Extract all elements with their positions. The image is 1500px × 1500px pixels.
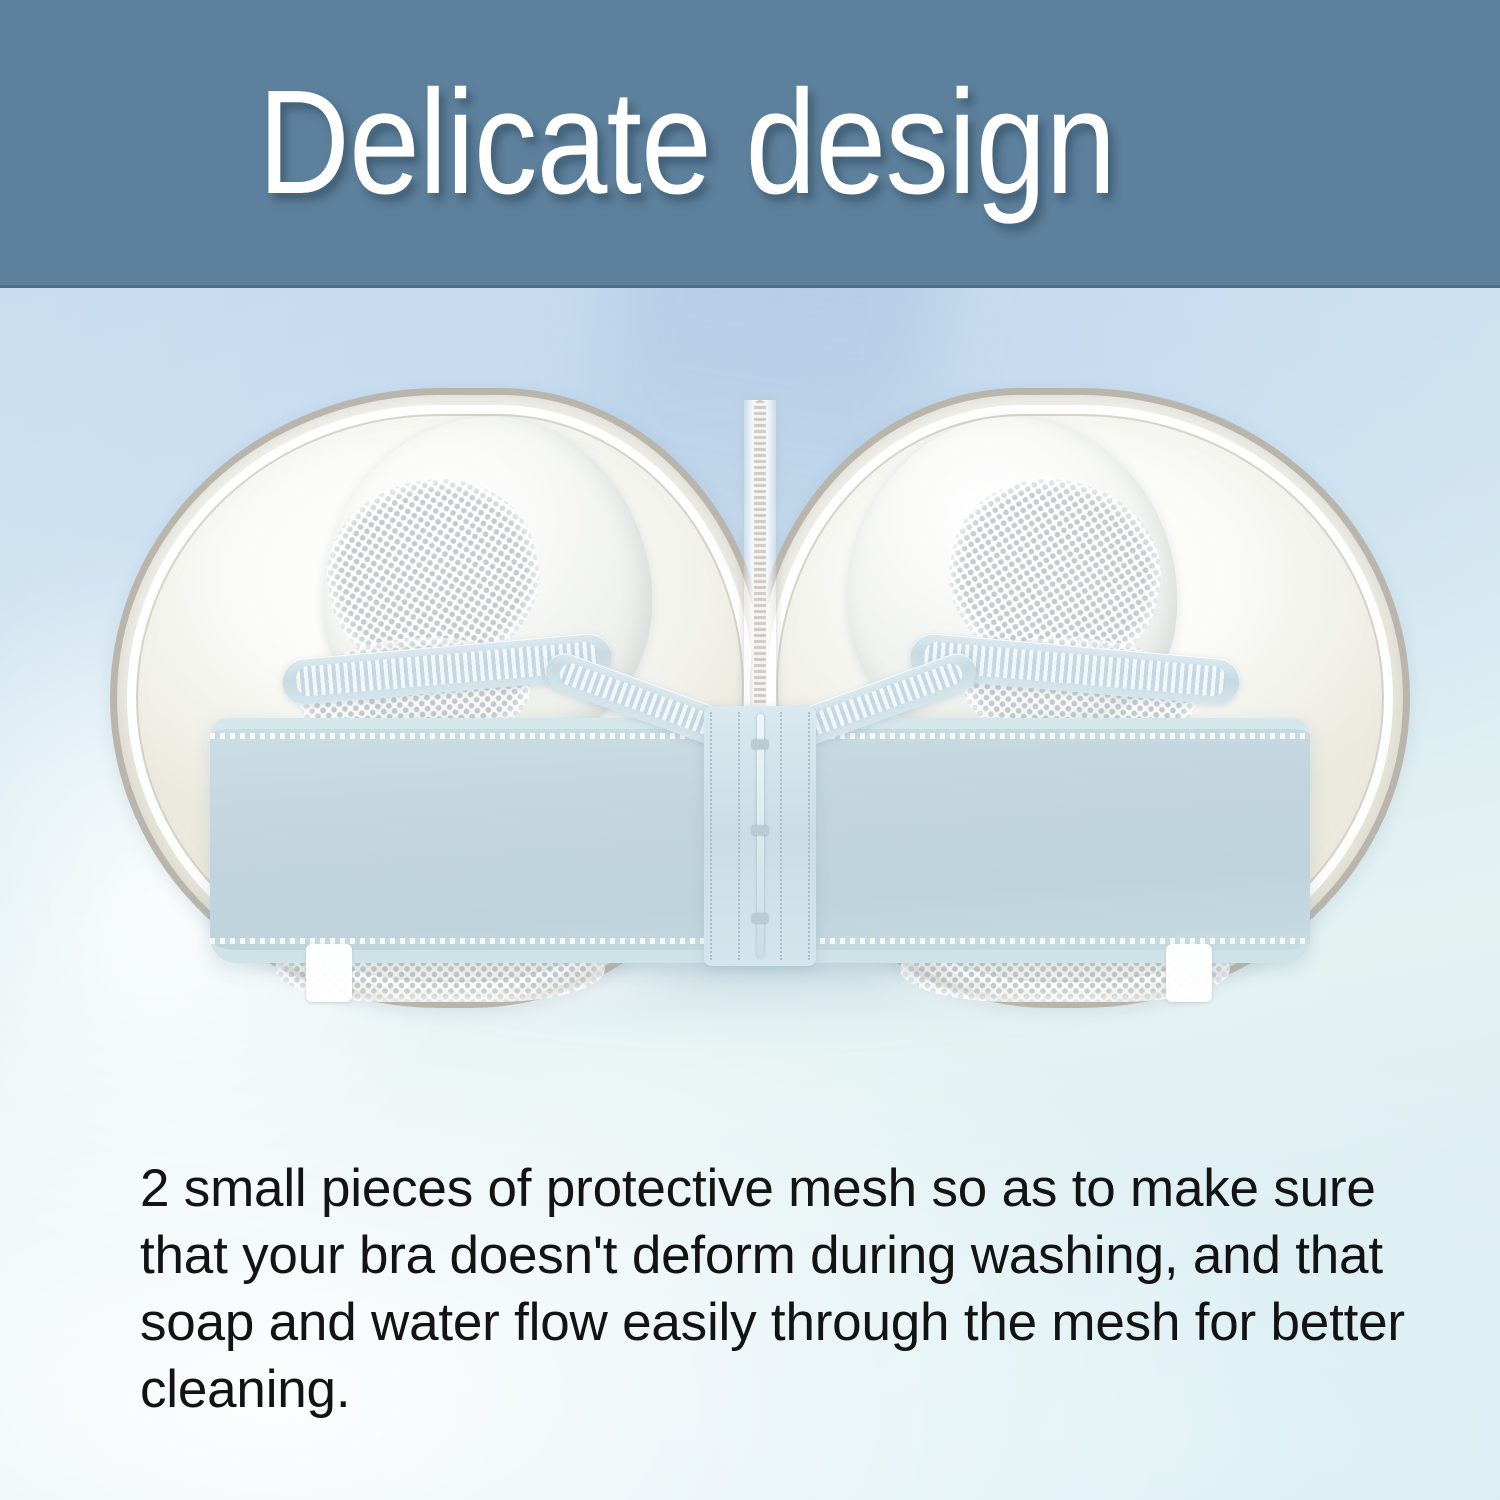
closure-hook (752, 826, 768, 835)
center-zipper (744, 400, 776, 730)
bag-tab-right (1166, 944, 1212, 1002)
closure-hook (752, 914, 768, 923)
feature-caption: 2 small pieces of protective mesh so as … (140, 1155, 1410, 1423)
product-feature-image: Delicate design (0, 0, 1500, 1500)
zipper-teeth (754, 400, 766, 730)
bag-tab-left (306, 944, 352, 1002)
page-title: Delicate design (258, 69, 1115, 217)
closure-hook (752, 740, 768, 749)
bra-laundry-bag (110, 388, 1410, 1013)
closure-stitch-column-right (780, 712, 810, 960)
closure-stitch-column-left (710, 712, 740, 960)
header-banner: Delicate design (0, 0, 1500, 288)
front-hook-closure (704, 706, 816, 966)
